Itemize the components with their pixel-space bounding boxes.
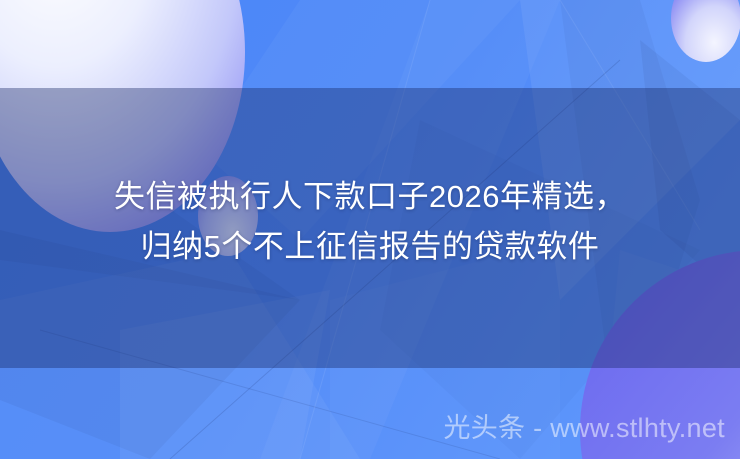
title-line-2: 归纳5个不上征信报告的贷款软件 bbox=[0, 222, 740, 272]
poster-canvas: 失信被执行人下款口子2026年精选， 归纳5个不上征信报告的贷款软件 光头条 -… bbox=[0, 0, 740, 459]
site-watermark: 光头条 - www.stlhty.net bbox=[443, 411, 725, 445]
poster-title: 失信被执行人下款口子2026年精选， 归纳5个不上征信报告的贷款软件 bbox=[0, 172, 740, 272]
title-line-1: 失信被执行人下款口子2026年精选， bbox=[0, 172, 740, 222]
